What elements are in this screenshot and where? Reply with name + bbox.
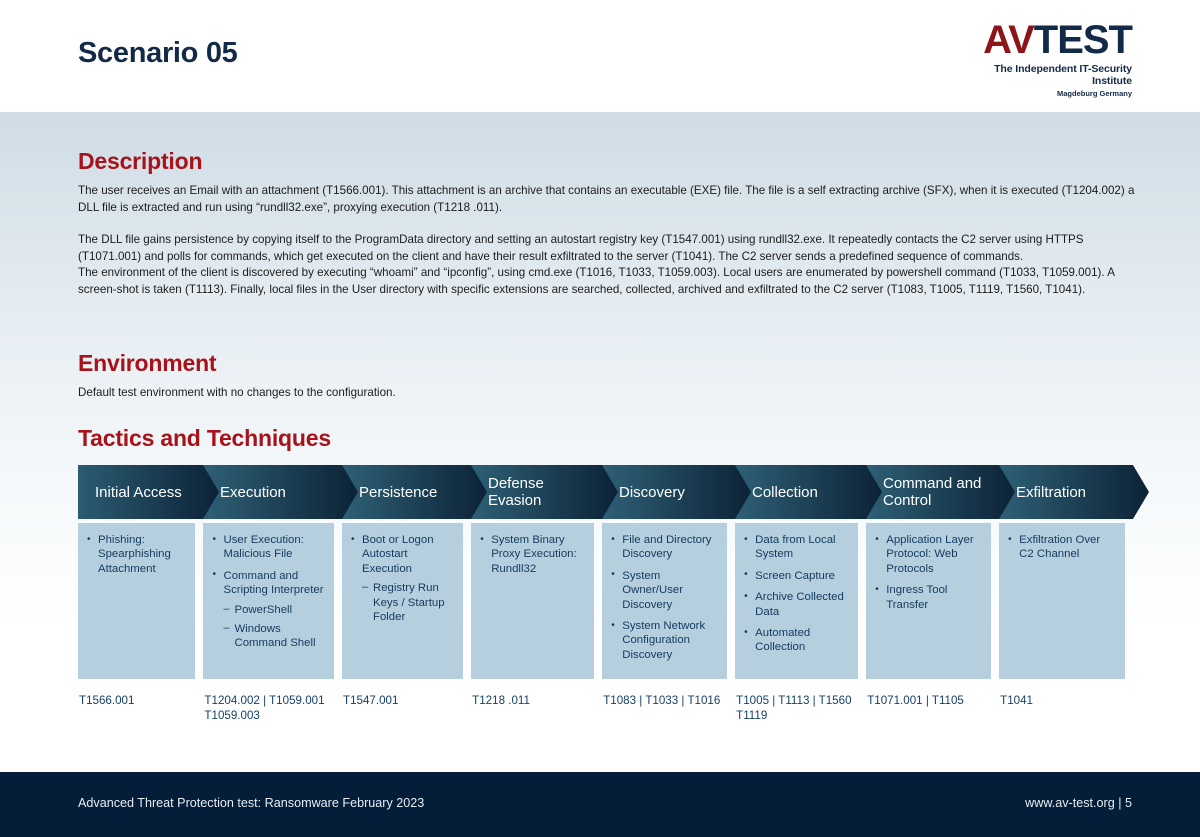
tactic-chevron-persistence[interactable]: Persistence [342, 465, 487, 519]
content-area: Description The user receives an Email w… [0, 112, 1200, 772]
technique-item: System Owner/User Discovery [611, 569, 717, 612]
technique-card-defense-evasion: System Binary Proxy Execution: Rundll32 [471, 523, 594, 679]
tactics-matrix: Initial AccessExecutionPersistenceDefens… [78, 465, 1133, 723]
tactic-chevron-collection[interactable]: Collection [735, 465, 882, 519]
environment-text: Default test environment with no changes… [78, 385, 1136, 402]
technique-item: Data from Local System [744, 533, 848, 562]
av-test-logo: AVTEST The Independent IT-Security Insti… [972, 20, 1132, 92]
tactic-chevron-execution[interactable]: Execution [203, 465, 358, 519]
tactic-chevron-label: Initial Access [95, 484, 182, 501]
technique-list: Application Layer Protocol: Web Protocol… [875, 533, 981, 612]
technique-item: File and Directory Discovery [611, 533, 717, 562]
environment-heading: Environment [78, 350, 216, 377]
technique-list: File and Directory DiscoverySystem Owner… [611, 533, 717, 662]
technique-item: Boot or Logon Autostart Execution [351, 533, 453, 576]
tactic-chevron-label: Discovery [619, 484, 685, 501]
tactic-chevron-defense-evasion[interactable]: Defense Evasion [471, 465, 618, 519]
technique-item: Archive Collected Data [744, 590, 848, 619]
technique-card-persistence: Boot or Logon Autostart ExecutionRegistr… [342, 523, 463, 679]
footer-url-page: www.av-test.org | 5 [1025, 796, 1132, 810]
technique-list: Phishing: Spearphishing Attachment [87, 533, 185, 576]
logo-location: Magdeburg Germany [972, 89, 1132, 98]
tactic-chevron-label: Exfiltration [1016, 484, 1086, 501]
technique-ids-command-and-control: T1071.001 | T1105 [866, 693, 991, 723]
technique-ids-discovery: T1083 | T1033 | T1016 [602, 693, 727, 723]
technique-card-collection: Data from Local SystemScreen CaptureArch… [735, 523, 858, 679]
technique-list: System Binary Proxy Execution: Rundll32 [480, 533, 584, 576]
technique-ids-row: T1566.001T1204.002 | T1059.001 T1059.003… [78, 693, 1133, 723]
footer-test-name: Advanced Threat Protection test: Ransomw… [78, 796, 424, 810]
technique-sub-item: PowerShell [212, 603, 324, 617]
technique-item: Screen Capture [744, 569, 848, 583]
technique-list: Exfiltration Over C2 Channel [1008, 533, 1115, 562]
page-footer: Advanced Threat Protection test: Ransomw… [0, 772, 1200, 837]
description-heading: Description [78, 148, 202, 175]
technique-card-exfiltration: Exfiltration Over C2 Channel [999, 523, 1125, 679]
technique-item: System Network Configuration Discovery [611, 619, 717, 662]
technique-item: Application Layer Protocol: Web Protocol… [875, 533, 981, 576]
tactic-chevron-label: Execution [220, 484, 286, 501]
technique-ids-exfiltration: T1041 [999, 693, 1125, 723]
technique-ids-collection: T1005 | T1113 | T1560 T1119 [735, 693, 858, 723]
technique-item: System Binary Proxy Execution: Rundll32 [480, 533, 584, 576]
tactic-chevron-label: Collection [752, 484, 818, 501]
technique-ids-defense-evasion: T1218 .011 [471, 693, 594, 723]
tactics-chevron-row: Initial AccessExecutionPersistenceDefens… [78, 465, 1133, 519]
technique-item: Phishing: Spearphishing Attachment [87, 533, 185, 576]
logo-tagline: The Independent IT-Security Institute [972, 63, 1132, 87]
slide-page: Scenario 05 AVTEST The Independent IT-Se… [0, 0, 1200, 837]
technique-item: Command and Scripting Interpreter [212, 569, 324, 598]
tactic-chevron-exfiltration[interactable]: Exfiltration [999, 465, 1149, 519]
technique-ids-initial-access: T1566.001 [78, 693, 195, 723]
tactic-chevron-label: Defense Evasion [488, 475, 596, 509]
technique-ids-execution: T1204.002 | T1059.001 T1059.003 [203, 693, 334, 723]
technique-item: Ingress Tool Transfer [875, 583, 981, 612]
tactic-chevron-discovery[interactable]: Discovery [602, 465, 751, 519]
technique-card-discovery: File and Directory DiscoverySystem Owner… [602, 523, 727, 679]
environment-body: Default test environment with no changes… [78, 385, 1136, 402]
description-paragraph-3: The environment of the client is discove… [78, 265, 1136, 298]
page-header: Scenario 05 AVTEST The Independent IT-Se… [0, 0, 1200, 112]
description-paragraph-1: The user receives an Email with an attac… [78, 183, 1136, 216]
technique-item: Exfiltration Over C2 Channel [1008, 533, 1115, 562]
technique-ids-persistence: T1547.001 [342, 693, 463, 723]
logo-test-text: TEST [1034, 18, 1132, 62]
tactics-heading: Tactics and Techniques [78, 425, 331, 452]
logo-av-text: AV [983, 18, 1034, 62]
description-paragraph-2: The DLL file gains persistence by copyin… [78, 232, 1136, 265]
technique-card-initial-access: Phishing: Spearphishing Attachment [78, 523, 195, 679]
logo-wordmark: AVTEST [972, 20, 1132, 60]
technique-item: Automated Collection [744, 626, 848, 655]
technique-sub-item: Windows Command Shell [212, 622, 324, 651]
technique-list: User Execution: Malicious FileCommand an… [212, 533, 324, 651]
technique-item: User Execution: Malicious File [212, 533, 324, 562]
tactic-chevron-initial-access[interactable]: Initial Access [78, 465, 219, 519]
technique-list: Boot or Logon Autostart ExecutionRegistr… [351, 533, 453, 624]
description-body: The user receives an Email with an attac… [78, 183, 1136, 299]
technique-list: Data from Local SystemScreen CaptureArch… [744, 533, 848, 655]
tactic-chevron-label: Persistence [359, 484, 437, 501]
technique-card-execution: User Execution: Malicious FileCommand an… [203, 523, 334, 679]
techniques-card-row: Phishing: Spearphishing AttachmentUser E… [78, 523, 1133, 679]
technique-card-command-and-control: Application Layer Protocol: Web Protocol… [866, 523, 991, 679]
tactic-chevron-command-and-control[interactable]: Command and Control [866, 465, 1015, 519]
page-title: Scenario 05 [78, 37, 238, 70]
technique-sub-item: Registry Run Keys / Startup Folder [351, 581, 453, 624]
tactic-chevron-label: Command and Control [883, 475, 993, 509]
